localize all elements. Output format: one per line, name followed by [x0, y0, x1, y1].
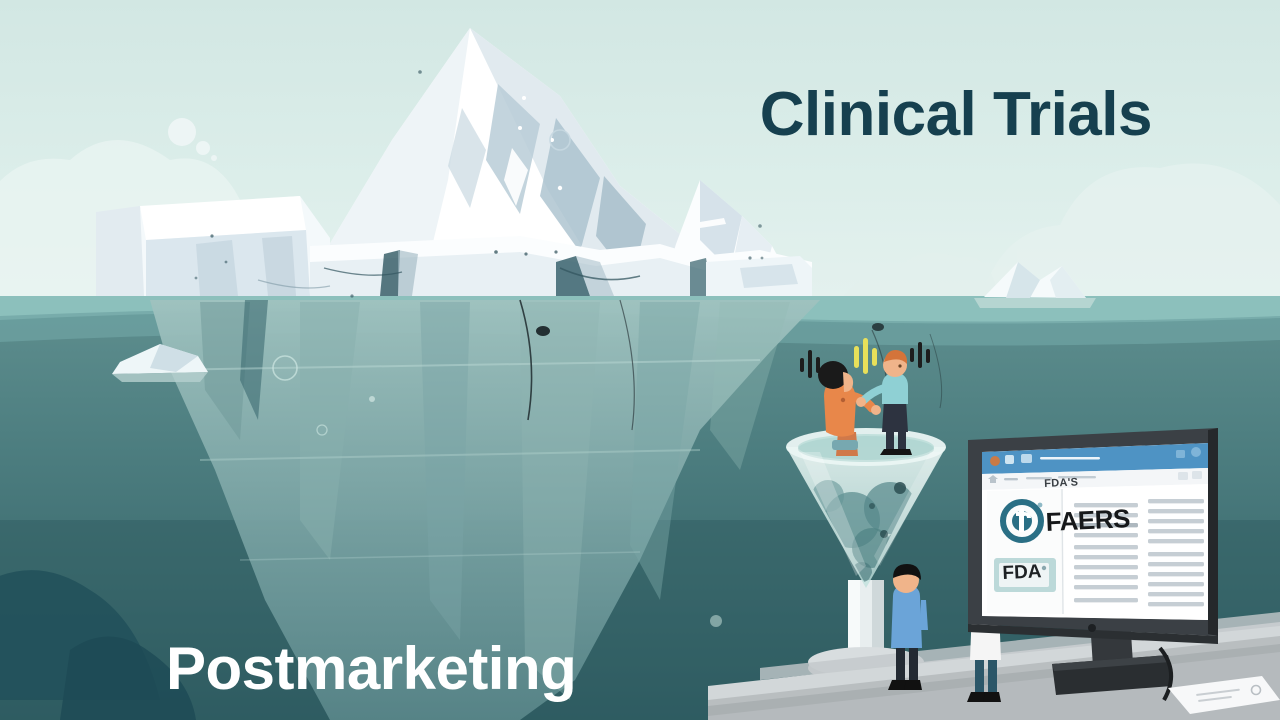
faers-small-heading: FDA'S — [1044, 476, 1079, 490]
faers-heading: FAERS — [1045, 503, 1131, 538]
postmarketing-experience-title: Postmarketing Experience — [166, 492, 576, 720]
browser-close-icon — [1191, 447, 1201, 457]
blue-shirt — [891, 584, 922, 648]
fda-button-label[interactable]: FDA — [1002, 561, 1042, 585]
browser-menu-icon — [1178, 472, 1188, 480]
browser-minimize-icon — [1176, 450, 1185, 458]
browser-extension-icon — [1192, 471, 1202, 479]
browser-tab-icon — [1005, 455, 1014, 464]
browser-tab-favicon — [990, 456, 1000, 466]
clinical-trials-title: Clinical Trials — [760, 84, 1152, 146]
browser-tab-icon-2 — [1021, 454, 1032, 463]
postmarketing-title-line1: Postmarketing — [166, 634, 576, 705]
illustration-canvas: Clinical Trials Postmarketing Experience… — [0, 0, 1280, 720]
dark-pants — [882, 400, 908, 432]
monitor-power-led — [1088, 624, 1096, 632]
browser-tab-title-bar — [1040, 457, 1100, 460]
